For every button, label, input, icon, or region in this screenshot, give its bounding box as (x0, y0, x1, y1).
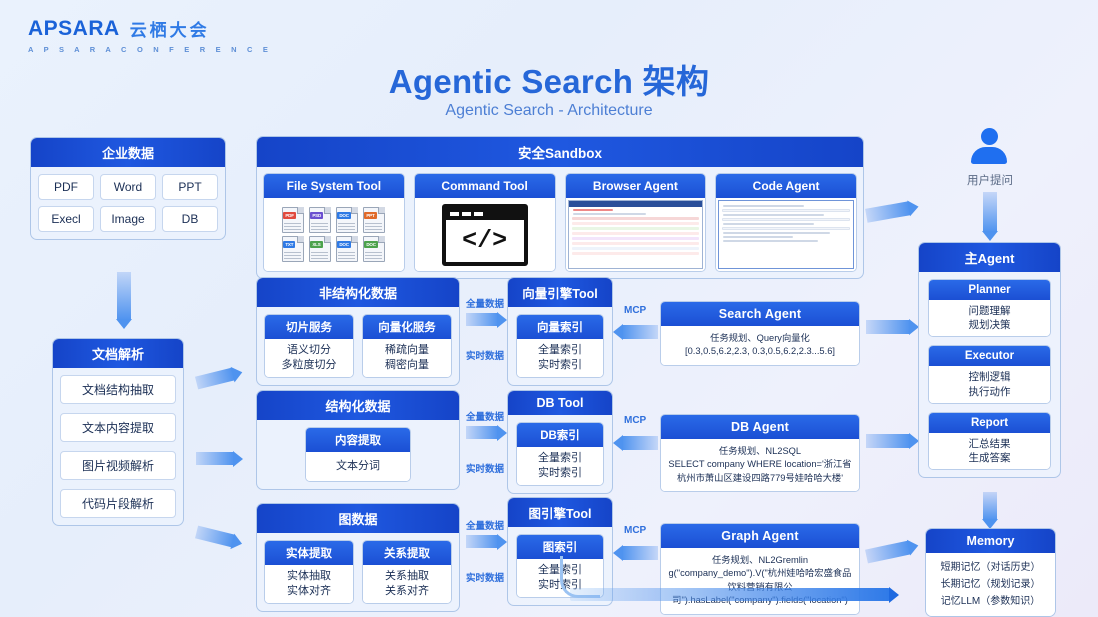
mcp-label: MCP (624, 305, 646, 316)
memory-panel: Memory 短期记忆（对话历史） 长期记忆（规划记录） 记忆LLM（参数知识） (925, 528, 1056, 617)
source-card-line: 文本分词 (308, 459, 408, 474)
search-agent-title: Search Agent (661, 302, 859, 326)
enterprise-data-item[interactable]: Execl (38, 206, 94, 232)
module-line: 规划决策 (931, 318, 1048, 332)
logo-chinese-name: 云栖大会 (130, 16, 210, 41)
db-tool-panel: DB Tool DB索引 全量索引 实时索引 (507, 390, 613, 494)
main-agent-module-executor[interactable]: Executor 控制逻辑 执行动作 (928, 345, 1051, 403)
graph-engine-header: 图引擎Tool (508, 498, 612, 527)
diagram-canvas: APSARA 云栖大会 A P S A R A C O N F E R E N … (0, 0, 1098, 617)
structured-data-panel: 结构化数据 内容提取 文本分词 (256, 390, 460, 490)
browser-screenshot-thumbnail (566, 198, 706, 271)
search-agent-line-1: 任务规划、Query向量化 (666, 332, 854, 345)
graph-data-panel: 图数据 实体提取 实体抽取 实体对齐 关系提取 关系抽取 关系对齐 (256, 503, 460, 612)
source-card-title: 关系提取 (363, 541, 451, 565)
module-line: 生成答案 (931, 451, 1048, 465)
engine-index-card[interactable]: 向量索引 全量索引 实时索引 (516, 314, 604, 378)
sandbox-tool-file-system[interactable]: File System Tool PDF PSD DOC PPT TXT XLS… (263, 173, 405, 272)
source-card-line: 稀疏向量 (365, 343, 449, 358)
apsara-logo: APSARA 云栖大会 A P S A R A C O N F E R E N … (28, 16, 272, 54)
source-card-line: 稠密向量 (365, 358, 449, 373)
engine-index-line: 全量索引 (519, 343, 601, 358)
main-agent-module-planner[interactable]: Planner 问题理解 规划决策 (928, 279, 1051, 337)
source-card-line: 关系抽取 (365, 569, 449, 584)
memory-line: 短期记忆（对话历史） (930, 559, 1051, 576)
arrow-sandbox-to-mainagent (865, 201, 911, 222)
engine-index-card[interactable]: DB索引 全量索引 实时索引 (516, 422, 604, 486)
source-card-title: 内容提取 (306, 428, 410, 452)
mcp-label: MCP (624, 525, 646, 536)
terminal-code-icon: </> (415, 198, 555, 271)
document-parse-item[interactable]: 图片视频解析 (60, 451, 176, 480)
document-parse-header: 文档解析 (53, 339, 183, 368)
module-title: Planner (929, 280, 1050, 300)
code-document-screenshot-thumbnail (716, 198, 856, 271)
code-glyph: </> (446, 220, 524, 262)
page-title: Agentic Search 架构 (0, 55, 1098, 103)
unstructured-data-panel: 非结构化数据 切片服务 语义切分 多粒度切分 向量化服务 稀疏向量 稠密向量 (256, 277, 460, 386)
sandbox-tool-title: Browser Agent (566, 174, 706, 198)
structured-data-header: 结构化数据 (257, 391, 459, 420)
arrow-user-to-mainagent (983, 192, 997, 232)
enterprise-data-header: 企业数据 (31, 138, 225, 167)
enterprise-data-item[interactable]: Word (100, 174, 156, 200)
unstructured-data-header: 非结构化数据 (257, 278, 459, 307)
memory-line: 记忆LLM（参数知识） (930, 593, 1051, 610)
logo-subtitle: A P S A R A C O N F E R E N C E (28, 45, 272, 54)
source-card[interactable]: 切片服务 语义切分 多粒度切分 (264, 314, 354, 378)
main-agent-header: 主Agent (919, 243, 1060, 272)
enterprise-data-panel: 企业数据 PDF Word PPT Execl Image DB (30, 137, 226, 240)
engine-index-title: 向量索引 (517, 315, 603, 339)
arrow-search-agent-to-vector-engine (622, 325, 658, 339)
document-parse-panel: 文档解析 文档结构抽取 文本内容提取 图片视频解析 代码片段解析 (52, 338, 184, 526)
db-agent-line-2: SELECT company WHERE location='浙江省杭州市萧山区… (666, 458, 854, 485)
sandbox-panel: 安全Sandbox File System Tool PDF PSD DOC P… (256, 136, 864, 279)
flow-label-realtime-data: 实时数据 (466, 348, 504, 362)
engine-index-line: 实时索引 (519, 466, 601, 481)
arrow-docparse-to-graph (195, 526, 235, 548)
db-agent-line-1: 任务规划、NL2SQL (666, 445, 854, 458)
enterprise-data-item[interactable]: PDF (38, 174, 94, 200)
db-agent-title: DB Agent (661, 415, 859, 439)
sandbox-tool-code-agent[interactable]: Code Agent (715, 173, 857, 272)
arrow-feedback-to-memory (570, 588, 890, 601)
engine-index-title: DB索引 (517, 423, 603, 447)
flow-label-realtime-data: 实时数据 (466, 461, 504, 475)
arrow-docparse-to-unstructured (195, 368, 235, 390)
engine-index-line: 实时索引 (519, 358, 601, 373)
sandbox-header: 安全Sandbox (257, 137, 863, 167)
engine-index-line: 全量索引 (519, 451, 601, 466)
source-card[interactable]: 关系提取 关系抽取 关系对齐 (362, 540, 452, 604)
arrow-enterprise-to-docparse (117, 272, 131, 320)
user-prompt-label: 用户提问 (930, 172, 1050, 188)
arrow-mainagent-to-memory (983, 492, 997, 520)
source-card-title: 切片服务 (265, 315, 353, 339)
flow-label-realtime-data: 实时数据 (466, 570, 504, 584)
source-card[interactable]: 内容提取 文本分词 (305, 427, 411, 482)
source-card-title: 向量化服务 (363, 315, 451, 339)
file-type-grid-icon: PDF PSD DOC PPT TXT XLS DOC DOC (264, 198, 404, 271)
sandbox-tool-title: File System Tool (264, 174, 404, 198)
module-line: 执行动作 (931, 385, 1048, 399)
module-title: Report (929, 413, 1050, 433)
vector-engine-tool-panel: 向量引擎Tool 向量索引 全量索引 实时索引 (507, 277, 613, 386)
logo-wordmark: APSARA (28, 17, 120, 41)
main-agent-module-report[interactable]: Report 汇总结果 生成答案 (928, 412, 1051, 470)
sandbox-tool-title: Command Tool (415, 174, 555, 198)
module-title: Executor (929, 346, 1050, 366)
graph-agent-line-1: 任务规划、NL2Gremlin (666, 554, 854, 567)
main-agent-panel: 主Agent Planner 问题理解 规划决策 Executor 控制逻辑 执… (918, 242, 1061, 478)
source-card-line: 多粒度切分 (267, 358, 351, 373)
flow-label-full-data: 全量数据 (466, 409, 504, 423)
sandbox-tool-browser-agent[interactable]: Browser Agent (565, 173, 707, 272)
module-line: 控制逻辑 (931, 370, 1048, 384)
enterprise-data-item[interactable]: PPT (162, 174, 218, 200)
arrow-db-agent-to-mainagent (866, 434, 910, 448)
flow-label-full-data: 全量数据 (466, 296, 504, 310)
arrow-docparse-to-structured (196, 452, 234, 465)
arrow-to-vector-engine-full (466, 313, 498, 326)
source-card[interactable]: 实体提取 实体抽取 实体对齐 (264, 540, 354, 604)
source-card[interactable]: 向量化服务 稀疏向量 稠密向量 (362, 314, 452, 378)
flow-label-full-data: 全量数据 (466, 518, 504, 532)
source-card-line: 语义切分 (267, 343, 351, 358)
source-card-title: 实体提取 (265, 541, 353, 565)
document-parse-item[interactable]: 文档结构抽取 (60, 375, 176, 404)
arrow-to-graph-engine-full (466, 535, 498, 548)
arrow-db-agent-to-db-tool (622, 436, 658, 450)
enterprise-data-item[interactable]: DB (162, 206, 218, 232)
page-subtitle: Agentic Search - Architecture (0, 102, 1098, 120)
search-agent-card[interactable]: Search Agent 任务规划、Query向量化 [0.3,0.5,6.2,… (660, 301, 860, 366)
source-card-line: 关系对齐 (365, 584, 449, 599)
graph-data-header: 图数据 (257, 504, 459, 533)
arrow-search-agent-to-mainagent (866, 320, 910, 334)
db-tool-header: DB Tool (508, 391, 612, 415)
memory-line: 长期记忆（规划记录） (930, 576, 1051, 593)
document-parse-item[interactable]: 文本内容提取 (60, 413, 176, 442)
user-avatar-icon (968, 128, 1010, 168)
arrow-to-db-engine-full (466, 426, 498, 439)
arrow-graph-agent-to-graph-tool (622, 546, 658, 560)
enterprise-data-item[interactable]: Image (100, 206, 156, 232)
sandbox-tool-title: Code Agent (716, 174, 856, 198)
module-line: 问题理解 (931, 304, 1048, 318)
db-agent-card[interactable]: DB Agent 任务规划、NL2SQL SELECT company WHER… (660, 414, 860, 492)
source-card-line: 实体对齐 (267, 584, 351, 599)
document-parse-item[interactable]: 代码片段解析 (60, 489, 176, 518)
graph-agent-title: Graph Agent (661, 524, 859, 548)
graph-agent-card[interactable]: Graph Agent 任务规划、NL2Gremlin g("company_d… (660, 523, 860, 615)
module-line: 汇总结果 (931, 437, 1048, 451)
vector-engine-header: 向量引擎Tool (508, 278, 612, 307)
sandbox-tool-command[interactable]: Command Tool </> (414, 173, 556, 272)
memory-header: Memory (926, 529, 1055, 553)
search-agent-line-2: [0.3,0.5,6.2,2.3, 0.3,0.5,6.2,2.3...5.6] (666, 345, 854, 358)
mcp-label: MCP (624, 415, 646, 426)
arrow-graph-agent-to-mainagent (865, 541, 911, 564)
source-card-line: 实体抽取 (267, 569, 351, 584)
